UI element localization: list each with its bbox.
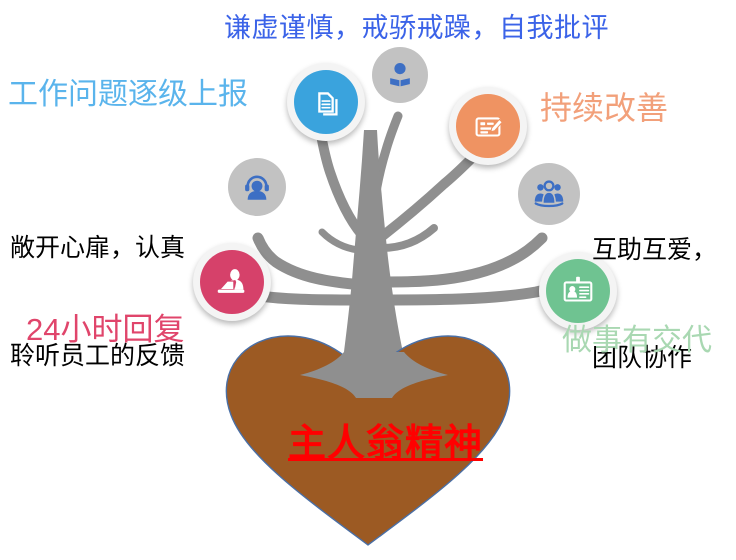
person-reading-book-icon <box>384 59 416 91</box>
label-humility-motto: 谦虚谨慎，戒骄戒躁，自我批评 <box>224 11 609 46</box>
label-accountability: 做事有交代 <box>562 322 712 360</box>
icon-badge-reading-person[interactable] <box>372 47 428 103</box>
team-group-people-icon <box>530 175 568 213</box>
label-24h-reply: 24小时回复 <box>26 310 184 350</box>
documents-icon <box>294 70 358 134</box>
label-listen-to-employees: 敞开心扉，认真 聆听员工的反馈 <box>10 158 185 448</box>
form-pencil-edit-icon <box>456 94 520 158</box>
icon-badge-form-edit[interactable] <box>449 87 527 165</box>
label-listen-line1: 敞开心扉，认真 <box>10 231 185 267</box>
icon-badge-headset-support[interactable] <box>228 158 286 216</box>
person-at-laptop-icon <box>200 250 264 314</box>
label-teamwork-line1: 互助互爱， <box>592 233 717 269</box>
icon-badge-documents[interactable] <box>287 63 365 141</box>
icon-badge-team-group[interactable] <box>518 163 580 225</box>
headset-support-agent-icon <box>240 170 274 204</box>
concept-tree-poster: 谦虚谨慎，戒骄戒躁，自我批评 工作问题逐级上报 持续改善 敞开心扉，认真 聆听员… <box>0 0 736 560</box>
label-teamwork: 互助互爱， 团队协作 <box>592 160 717 450</box>
label-continuous-improvement: 持续改善 <box>540 88 668 129</box>
label-escalate-issues: 工作问题逐级上报 <box>8 76 248 114</box>
label-ownership-spirit: 主人翁精神 <box>288 412 483 467</box>
icon-badge-person-laptop[interactable] <box>193 243 271 321</box>
